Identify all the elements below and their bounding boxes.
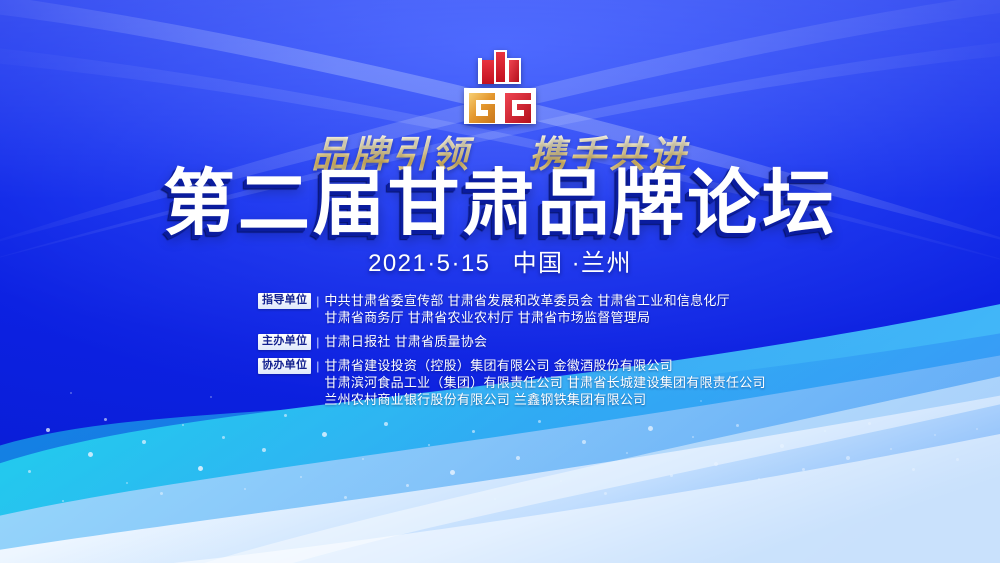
credit-line: 甘肃省商务厅 甘肃省农业农村厅 甘肃省市场监督管理局: [324, 309, 798, 326]
poster-title: 第二届甘肃品牌论坛: [0, 168, 1000, 240]
credit-line: 甘肃省建设投资（控股）集团有限公司 金徽酒股份有限公司: [324, 357, 798, 374]
credit-line: 中共甘肃省委宣传部 甘肃省发展和改革委员会 甘肃省工业和信息化厅: [324, 292, 798, 309]
poster-canvas: 品牌引领 携手共进 第二届甘肃品牌论坛 2021·5·15 中国 ·兰州 指导单…: [0, 0, 1000, 563]
credit-line: 兰州农村商业银行股份有限公司 兰鑫钢铁集团有限公司: [324, 391, 798, 408]
credit-row-guidance: 指导单位 | 中共甘肃省委宣传部 甘肃省发展和改革委员会 甘肃省工业和信息化厅 …: [258, 292, 798, 326]
credit-badge: 主办单位: [258, 334, 311, 350]
credit-lines: 中共甘肃省委宣传部 甘肃省发展和改革委员会 甘肃省工业和信息化厅 甘肃省商务厅 …: [324, 292, 798, 326]
credit-lines: 甘肃省建设投资（控股）集团有限公司 金徽酒股份有限公司 甘肃滨河食品工业（集团）…: [324, 357, 798, 408]
gansu-brand-forum-logo-icon: [458, 48, 542, 128]
credit-separator: |: [311, 358, 324, 374]
credit-separator: |: [311, 293, 324, 309]
credit-separator: |: [311, 334, 324, 350]
credits-block: 指导单位 | 中共甘肃省委宣传部 甘肃省发展和改革委员会 甘肃省工业和信息化厅 …: [258, 292, 798, 408]
event-city: 中国 ·兰州: [513, 250, 632, 277]
event-date: 2021·5·15: [368, 250, 490, 277]
credit-line: 甘肃日报社 甘肃省质量协会: [324, 333, 798, 350]
poster-date-location: 2021·5·15 中国 ·兰州: [0, 243, 1000, 278]
credit-badge: 指导单位: [258, 293, 311, 309]
credit-lines: 甘肃日报社 甘肃省质量协会: [324, 333, 798, 350]
logo-container: [0, 48, 1000, 128]
credit-row-co-organizer: 协办单位 | 甘肃省建设投资（控股）集团有限公司 金徽酒股份有限公司 甘肃滨河食…: [258, 357, 798, 408]
credit-badge: 协办单位: [258, 358, 311, 374]
credit-row-organizer: 主办单位 | 甘肃日报社 甘肃省质量协会: [258, 333, 798, 350]
credit-line: 甘肃滨河食品工业（集团）有限责任公司 甘肃省长城建设集团有限责任公司: [324, 374, 798, 391]
poster-content: 品牌引领 携手共进 第二届甘肃品牌论坛 2021·5·15 中国 ·兰州 指导单…: [0, 0, 1000, 563]
